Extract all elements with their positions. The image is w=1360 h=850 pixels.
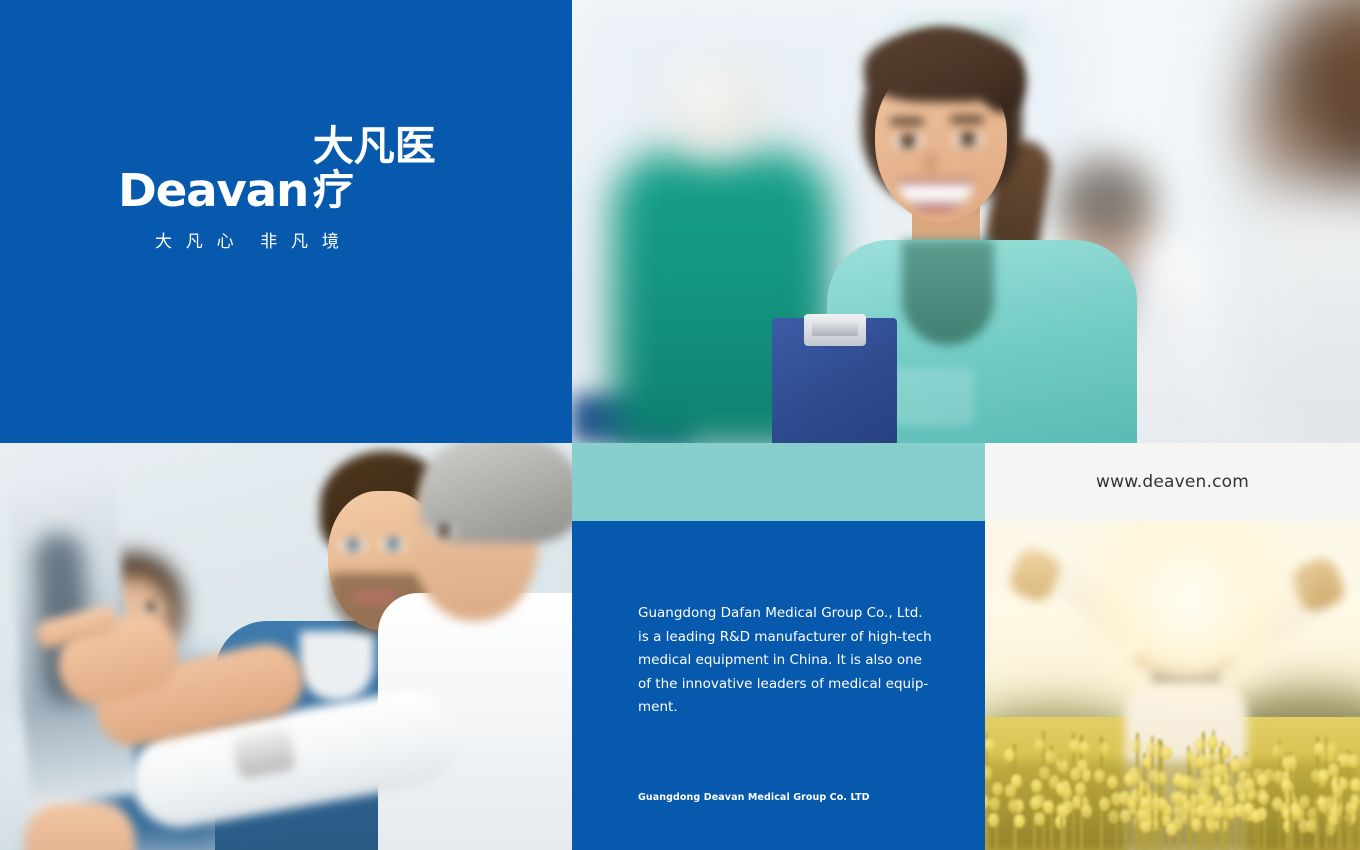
background-nurse-hair-icon	[667, 58, 765, 158]
company-footer-name: Guangdong Deavan Medical Group Co. LTD	[638, 792, 870, 803]
young-doctor-mouth-icon	[352, 591, 396, 604]
female-doctor-eye-right-icon	[141, 602, 161, 613]
website-url[interactable]: www.deaven.com	[1096, 472, 1249, 492]
doctors-photo	[0, 443, 572, 850]
teal-accent-band	[572, 443, 985, 521]
logo-chinese-name: 大凡医疗	[313, 124, 458, 213]
about-paragraph: Guangdong Dafan Medical Group Co., Ltd. …	[638, 602, 928, 720]
logo-block: Deavan 大凡医疗 大 凡 心 非 凡 境	[118, 163, 458, 252]
brand-page: Deavan 大凡医疗 大 凡 心 非 凡 境	[0, 0, 1360, 850]
website-panel: www.deaven.com	[985, 443, 1360, 521]
clipboard-clip-inner-icon	[812, 322, 858, 336]
foreground-patient-shoulder-icon	[1232, 185, 1360, 443]
nurse-eye-right-icon	[954, 132, 982, 147]
nurse-hair-bun-icon	[980, 55, 1026, 113]
background-doctor-hair-icon	[1062, 158, 1150, 236]
nurse-collar-icon	[902, 240, 994, 345]
logo-wordmark: Deavan	[118, 168, 308, 213]
about-panel: Guangdong Dafan Medical Group Co., Ltd. …	[572, 521, 985, 850]
young-doctor-eye-left-icon	[340, 539, 366, 552]
nurse-eyebrow-left-icon	[890, 118, 924, 125]
holding-hand-icon	[25, 803, 135, 850]
about-line: of the innovative leaders of medical equ…	[638, 673, 928, 697]
nurse-eyebrow-right-icon	[950, 116, 984, 123]
about-line: Guangdong Dafan Medical Group Co., Ltd.	[638, 602, 928, 626]
senior-doctor-eye-icon	[432, 525, 456, 537]
young-doctor-undershirt-icon	[300, 631, 374, 701]
nurse-eye-left-icon	[894, 134, 922, 149]
brand-panel: Deavan 大凡医疗 大 凡 心 非 凡 境	[0, 0, 572, 443]
logo-lockup: Deavan 大凡医疗	[118, 163, 458, 213]
nurse-photo	[572, 0, 1360, 443]
young-doctor-eye-right-icon	[380, 538, 406, 551]
about-line: medical equipment in China. It is also o…	[638, 649, 928, 673]
flower-stalks-group	[985, 711, 1360, 850]
nurse-nose-icon	[924, 152, 938, 174]
foreground-patient-ear-icon	[1272, 120, 1314, 176]
about-line: is a leading R&D manufacturer of high-te…	[638, 626, 928, 650]
field-photo	[985, 521, 1360, 850]
brand-tagline: 大 凡 心 非 凡 境	[155, 232, 458, 252]
about-line: ment.	[638, 696, 928, 720]
